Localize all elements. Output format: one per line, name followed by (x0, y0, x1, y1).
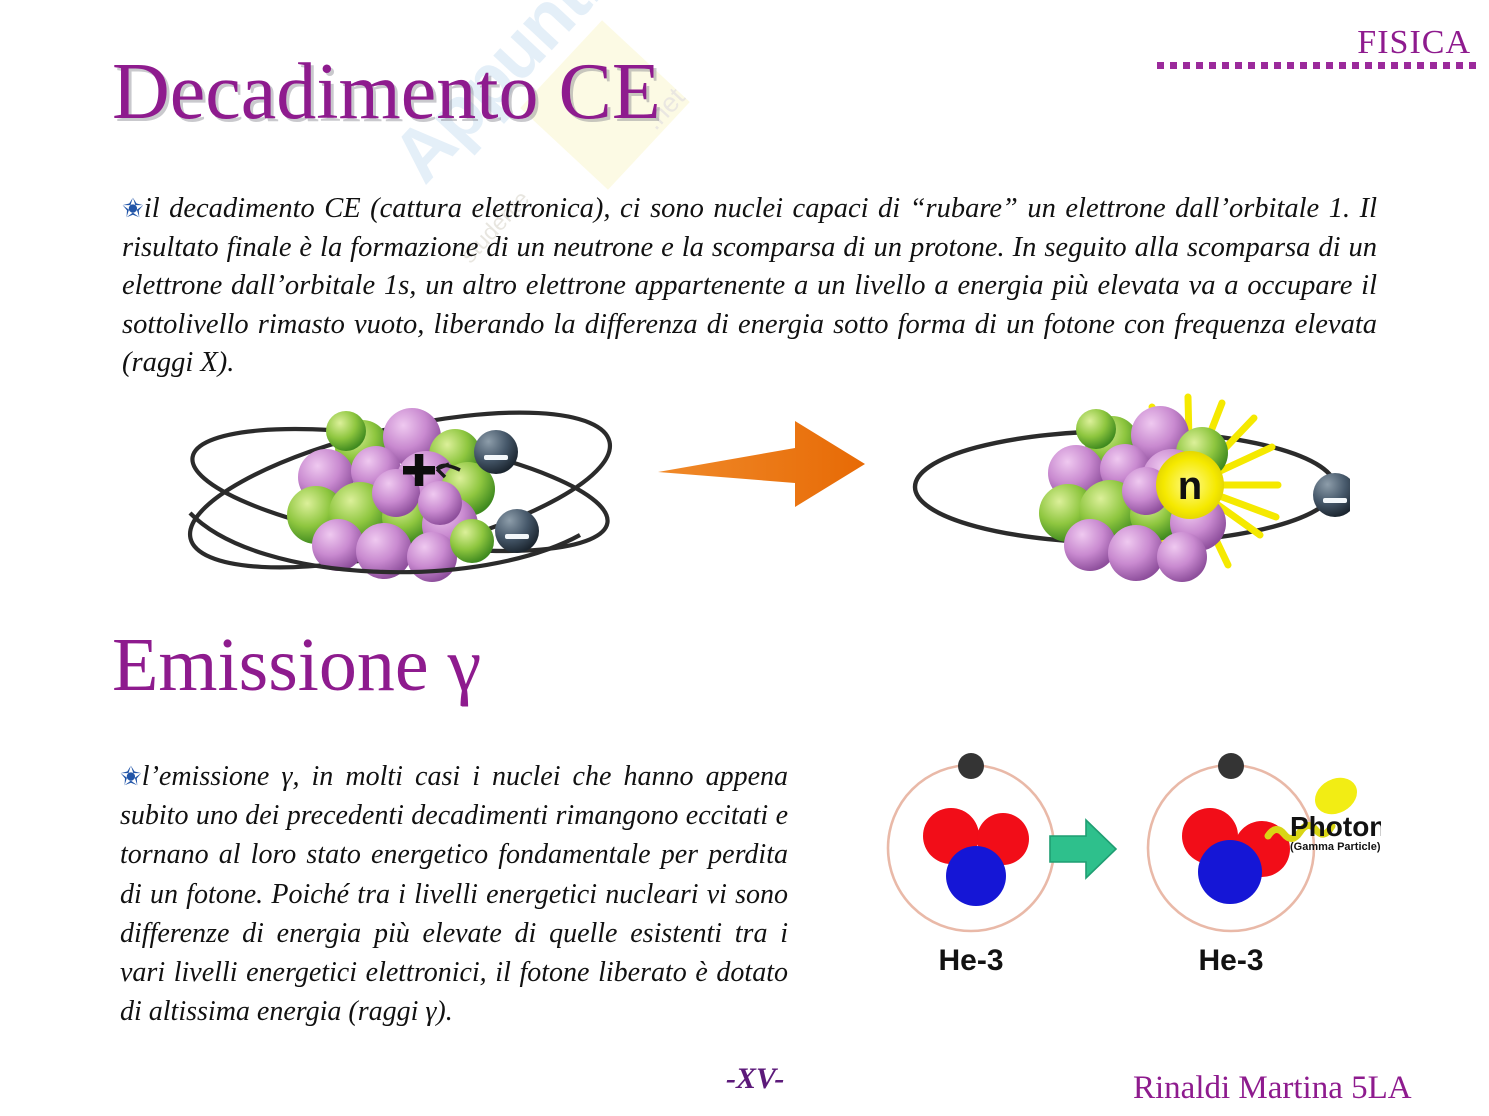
he3-left-electron (958, 753, 984, 779)
paragraph-emissione-gamma: ✬l’emissione γ, in molti casi i nuclei c… (120, 757, 788, 1031)
left-atom-electron-upper (474, 430, 518, 474)
paragraph-emissione-gamma-text: l’emissione γ, in molti casi i nuclei ch… (120, 761, 788, 1027)
he3-left-label: He-3 (938, 944, 1003, 977)
left-atom-electron-lower (495, 509, 539, 553)
author-credit: Rinaldi Martina 5LA (1133, 1070, 1412, 1107)
he3-left-atom: He-3 (888, 753, 1054, 977)
header-subject: FISICA (1357, 26, 1471, 60)
he3-right-neutron (1198, 840, 1262, 904)
he3-transition-arrow-icon (1050, 820, 1116, 878)
left-atom-group (177, 385, 624, 595)
page-title-emissione-gamma: Emissione γ (112, 627, 481, 703)
header-dotted-rule (1157, 62, 1477, 69)
page-number: -XV- (726, 1062, 784, 1096)
left-atom-nucleus (287, 408, 495, 582)
he3-right-atom: He-3 (1148, 753, 1314, 977)
figure-gamma-emission-he3: He-3 He-3 Photon (Gamma Particle) (858, 748, 1381, 980)
figure-electron-capture: n (150, 385, 1350, 595)
he3-left-neutron (946, 846, 1006, 906)
photon-label: Photon (1290, 811, 1381, 842)
paragraph-decadimento-ce: ✬il decadimento CE (cattura elettronica)… (122, 190, 1377, 383)
page-title-decadimento-ce: Decadimento CE (112, 52, 661, 132)
right-atom-group: n (915, 397, 1350, 582)
he3-right-label: He-3 (1198, 944, 1263, 977)
photon-sublabel: (Gamma Particle) (1290, 841, 1381, 853)
star-bullet-icon-2: ✬ (120, 762, 141, 791)
star-bullet-icon: ✬ (122, 194, 143, 223)
neutron-label: n (1178, 464, 1202, 508)
transition-arrow-icon (658, 421, 865, 507)
paragraph-decadimento-ce-text: il decadimento CE (cattura elettronica),… (122, 193, 1377, 378)
slide-page: Appunti .net studente FISICA Decadimento… (0, 0, 1489, 1116)
he3-right-electron (1218, 753, 1244, 779)
